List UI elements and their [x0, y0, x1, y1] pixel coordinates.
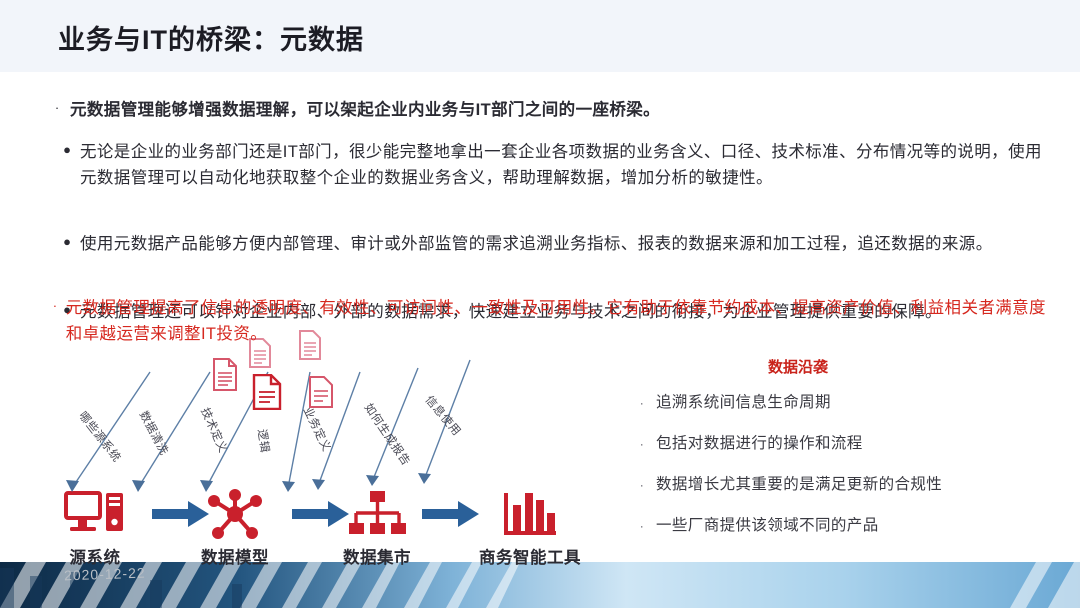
network-hub-icon: [180, 486, 290, 542]
list-item: · 数据增长尤其重要的是满足更新的合规性: [628, 472, 1058, 494]
bullet-marker-dot: ·: [628, 478, 656, 492]
bar-chart-icon: [450, 486, 610, 542]
red-annotation-text: 元数据管理提高了信息的透明度、有效性、可访问性、一致性及可用性。它有助于依靠节约…: [66, 296, 1054, 347]
list-item: · 追溯系统间信息生命周期: [628, 390, 1058, 412]
page-title: 业务与IT的桥梁：元数据: [58, 18, 364, 57]
bullet-marker-dot: ·: [628, 519, 656, 533]
bullet-item-1: · 元数据管理能够增强数据理解，可以架起企业内业务与IT部门之间的一座桥梁。: [44, 98, 1054, 124]
list-item: · 包括对数据进行的操作和流程: [628, 431, 1058, 453]
footer-image-band: [0, 562, 1080, 608]
flow-node-bi-tool: 商务智能工具: [450, 486, 610, 568]
document-icon: [212, 358, 238, 391]
slide-canvas: 业务与IT的桥梁：元数据 · 元数据管理能够增强数据理解，可以架起企业内业务与I…: [0, 0, 1080, 608]
bullet-marker-round: ●: [54, 140, 80, 160]
bullet-marker-dot: ·: [44, 296, 66, 316]
flow-node-label: 数据模型: [180, 544, 290, 568]
list-item-label: 追溯系统间信息生命周期: [656, 390, 831, 412]
data-flow-diagram: 源系统: [40, 486, 620, 566]
data-lineage-list: · 追溯系统间信息生命周期 · 包括对数据进行的操作和流程 · 数据增长尤其重要…: [628, 390, 1058, 554]
data-lineage-label: 数据沿袭: [768, 356, 828, 377]
list-item: · 一些厂商提供该领域不同的产品: [628, 513, 1058, 535]
flow-node-source-system: 源系统: [40, 486, 150, 568]
bullet-marker-dot: ·: [628, 396, 656, 410]
hierarchy-icon: [322, 486, 432, 542]
bullet-marker-dot: ·: [628, 437, 656, 451]
monitor-server-icon: [40, 486, 150, 542]
bullet-marker-dot: ·: [44, 98, 70, 118]
flow-node-data-model: 数据模型: [180, 486, 290, 568]
list-item-label: 包括对数据进行的操作和流程: [656, 431, 863, 453]
date-watermark: 2020-12-22: [64, 565, 146, 584]
red-annotation-paragraph: · 元数据管理提高了信息的透明度、有效性、可访问性、一致性及可用性。它有助于依靠…: [44, 296, 1054, 347]
bullet-text-1: 元数据管理能够增强数据理解，可以架起企业内业务与IT部门之间的一座桥梁。: [70, 98, 1054, 124]
bullet-text-2: 无论是企业的业务部门还是IT部门，很少能完整地拿出一套企业各项数据的业务含义、口…: [80, 140, 1054, 191]
document-icon: [308, 376, 334, 408]
document-icon: [252, 374, 282, 410]
bullet-marker-round: ●: [54, 232, 80, 252]
flow-node-label: 数据集市: [322, 544, 432, 568]
bullet-item-2: ● 无论是企业的业务部门还是IT部门，很少能完整地拿出一套企业各项数据的业务含义…: [54, 140, 1054, 191]
bullet-text-3: 使用元数据产品能够方便内部管理、审计或外部监管的需求追溯业务指标、报表的数据来源…: [80, 232, 1054, 258]
flow-node-data-mart: 数据集市: [322, 486, 432, 568]
flow-node-label: 商务智能工具: [450, 544, 610, 568]
bullet-item-3: ● 使用元数据产品能够方便内部管理、审计或外部监管的需求追溯业务指标、报表的数据…: [54, 232, 1054, 258]
list-item-label: 数据增长尤其重要的是满足更新的合规性: [656, 472, 942, 494]
list-item-label: 一些厂商提供该领域不同的产品: [656, 513, 879, 535]
